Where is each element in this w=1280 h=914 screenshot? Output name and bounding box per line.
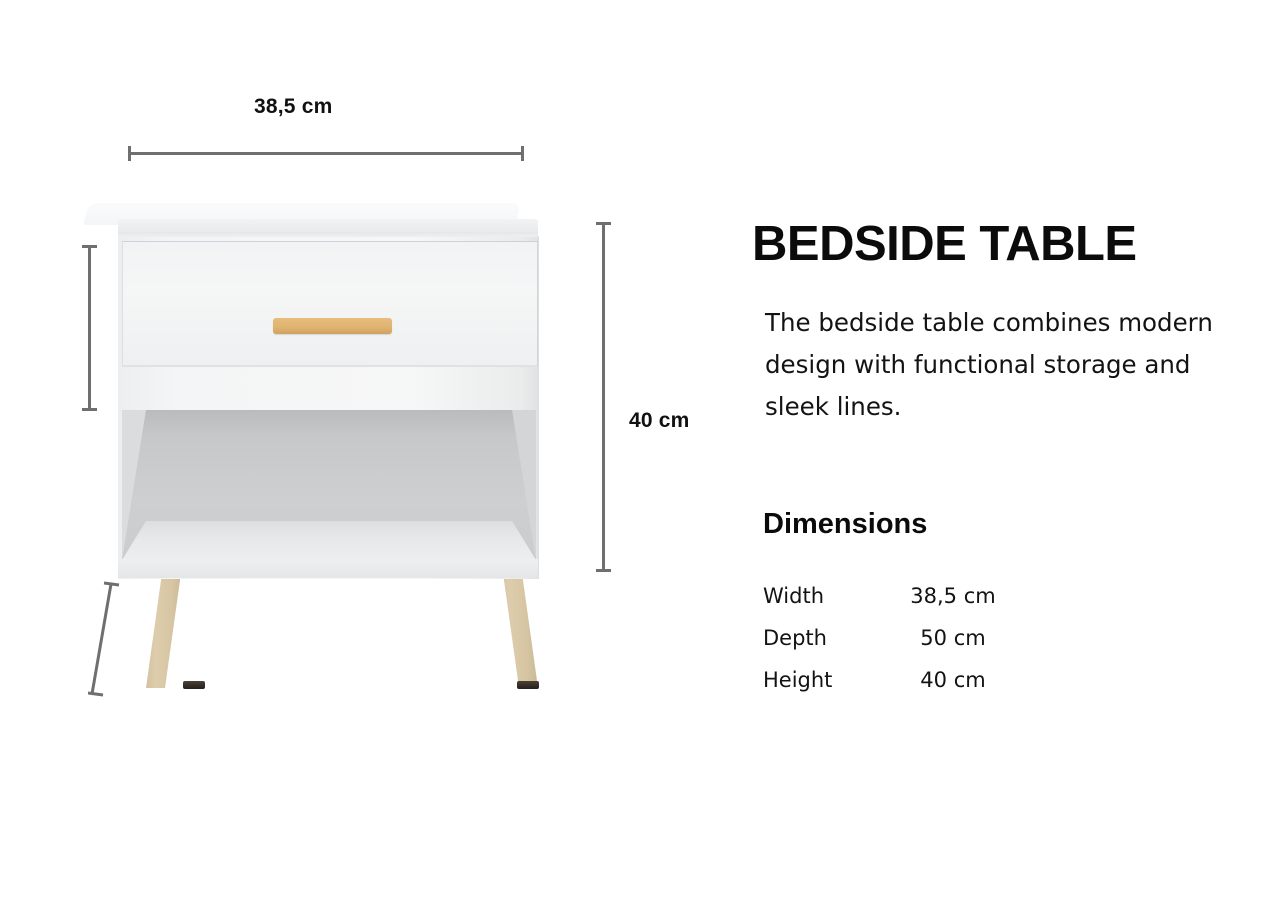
leg-left-foot (183, 681, 205, 689)
leg-left-shape (136, 573, 192, 688)
drawer-handle (273, 318, 392, 334)
drawer-front (122, 241, 538, 366)
table-row: Depth 50 cm (763, 626, 1013, 668)
cabinet-bottom-rail (118, 559, 538, 578)
leg-right-shape (488, 573, 548, 688)
dimensions-heading: Dimensions (763, 508, 927, 541)
height-dimension-line (602, 222, 605, 572)
height-dimension-label: 40 cm (629, 409, 690, 433)
height-dimension-cap-bottom (596, 569, 611, 572)
width-dimension-line (128, 152, 524, 155)
width-dimension-cap-right (521, 146, 524, 161)
leg-right (488, 573, 548, 688)
leg-left (136, 573, 192, 688)
dimension-label-height: Height (763, 668, 893, 692)
dimension-value-height: 40 cm (893, 668, 1013, 692)
dimensions-table: Width 38,5 cm Depth 50 cm Height 40 cm (763, 584, 1013, 710)
dimension-value-width: 38,5 cm (893, 584, 1013, 608)
table-top-edge (118, 232, 538, 237)
height-dimension-cap-top (596, 222, 611, 225)
dimension-label-depth: Depth (763, 626, 893, 650)
dimension-value-depth: 50 cm (893, 626, 1013, 650)
leg-right-foot (517, 681, 539, 689)
dimension-label-width: Width (763, 584, 893, 608)
product-description: The bedside table combines modern design… (765, 302, 1235, 428)
width-dimension-cap-left (128, 146, 131, 161)
drawer-seam (122, 365, 537, 367)
shelf-floor (122, 521, 536, 560)
table-row: Width 38,5 cm (763, 584, 1013, 626)
page-title: BEDSIDE TABLE (752, 216, 1137, 272)
bedside-table-illustration (80, 195, 560, 710)
spec-sheet-canvas: 38,5 cm 40 cm (0, 0, 1280, 914)
table-row: Height 40 cm (763, 668, 1013, 710)
width-dimension-label: 38,5 cm (254, 95, 332, 119)
